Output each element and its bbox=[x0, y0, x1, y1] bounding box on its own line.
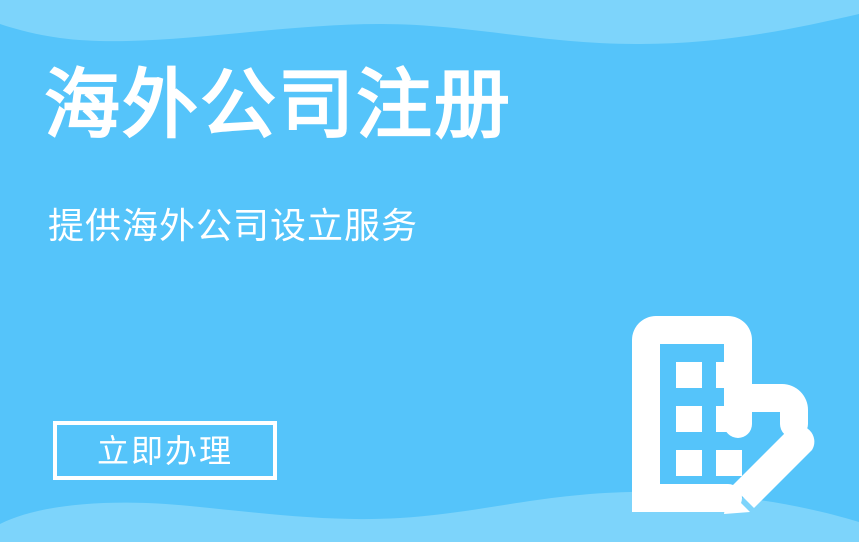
apply-now-button-label: 立即办理 bbox=[97, 435, 233, 467]
apply-now-button[interactable]: 立即办理 bbox=[53, 421, 277, 480]
page-title: 海外公司注册 bbox=[44, 66, 512, 146]
window-r3c1 bbox=[676, 450, 702, 476]
pencil-body bbox=[732, 426, 814, 508]
window-r3c2 bbox=[716, 450, 742, 476]
banner-content: 海外公司注册 提供海外公司设立服务 立即办理 bbox=[0, 0, 859, 542]
window-r1c2 bbox=[716, 362, 742, 388]
building-edit-icon-svg bbox=[604, 300, 824, 526]
page-subtitle: 提供海外公司设立服务 bbox=[48, 204, 418, 247]
promo-banner: 海外公司注册 提供海外公司设立服务 立即办理 bbox=[0, 0, 859, 542]
building-edit-icon bbox=[604, 300, 824, 526]
window-r2c2 bbox=[716, 406, 742, 432]
window-r1c1 bbox=[676, 362, 702, 388]
window-r2c1 bbox=[676, 406, 702, 432]
